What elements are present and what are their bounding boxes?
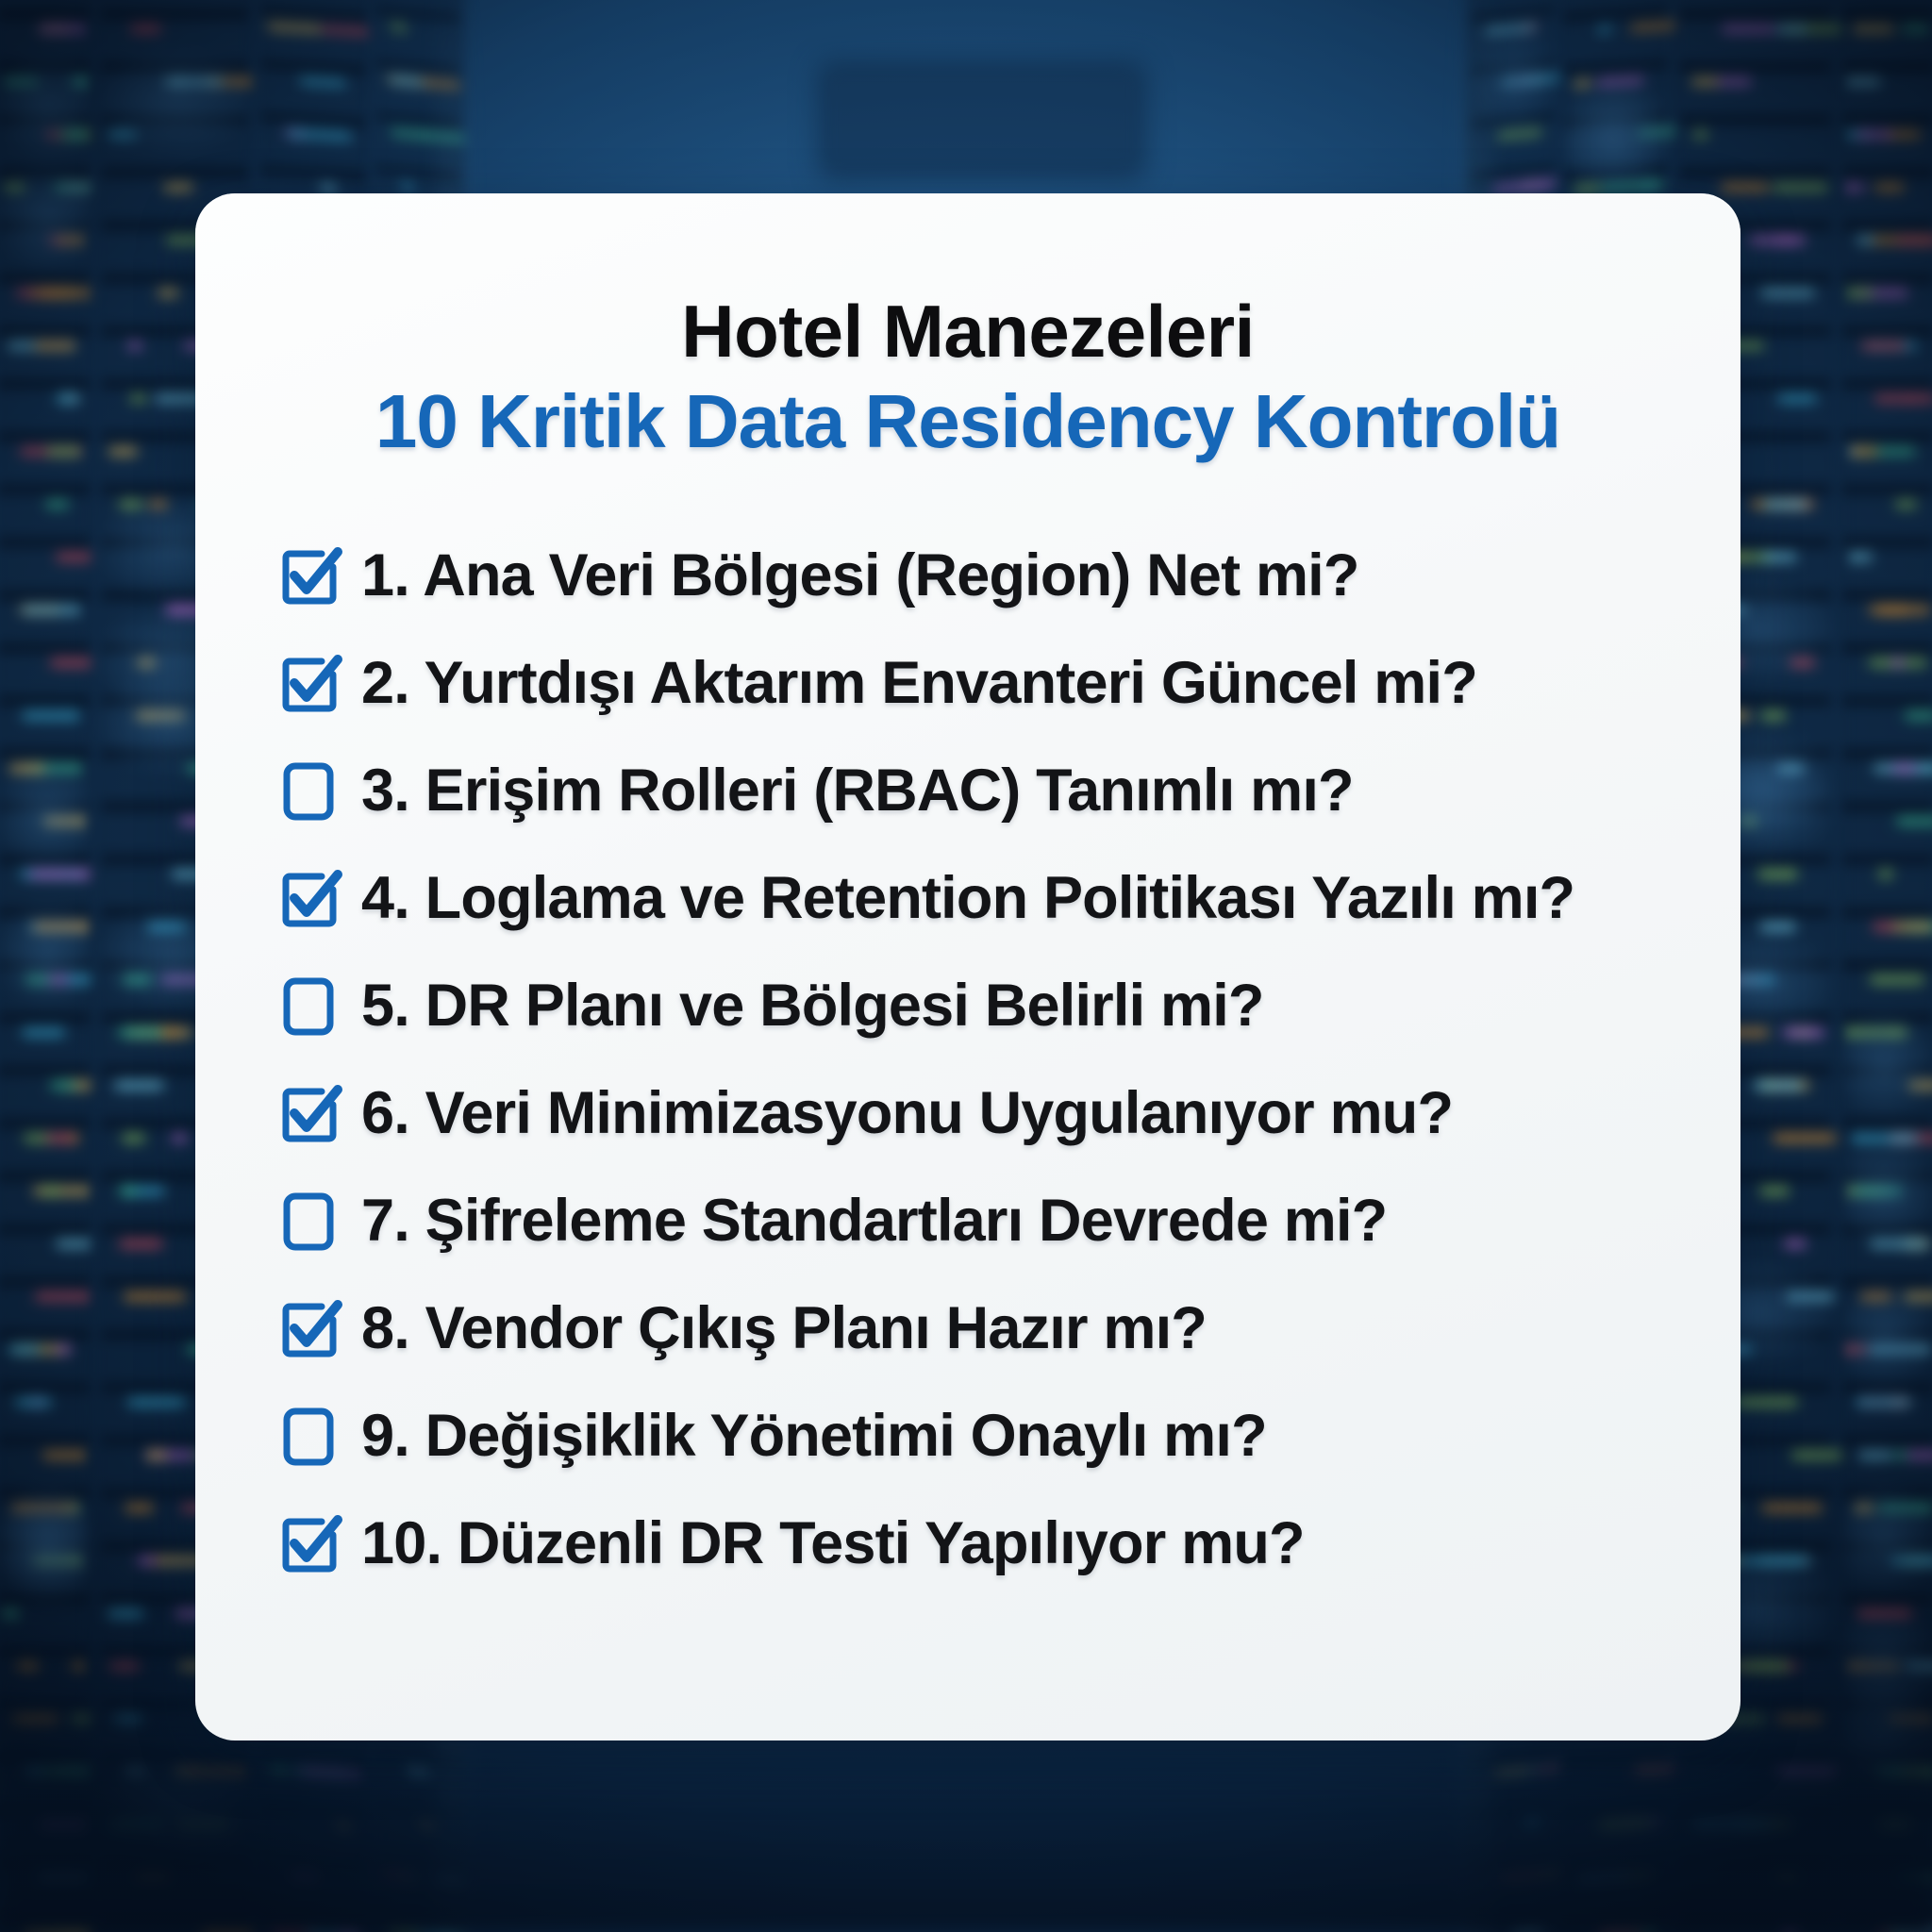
page-subtitle: 10 Kritik Data Residency Kontrolü xyxy=(265,382,1671,462)
checklist-item[interactable]: 2. Yurtdışı Aktarım Envanteri Güncel mi? xyxy=(278,629,1671,737)
poster-canvas: Hotel Manezeleri 10 Kritik Data Residenc… xyxy=(0,0,1932,1932)
checkbox-checked-icon[interactable] xyxy=(278,1512,341,1574)
checkbox-checked-icon[interactable] xyxy=(278,544,341,607)
checkbox-checked-icon[interactable] xyxy=(278,652,341,714)
checklist-item-label: 6. Veri Minimizasyonu Uygulanıyor mu? xyxy=(361,1079,1453,1147)
checklist-item[interactable]: 8. Vendor Çıkış Planı Hazır mı? xyxy=(278,1274,1671,1382)
checkbox-checked-icon[interactable] xyxy=(278,867,341,929)
checklist-item-label: 3. Erişim Rolleri (RBAC) Tanımlı mı? xyxy=(361,757,1354,824)
checklist-item-label: 4. Loglama ve Retention Politikası Yazıl… xyxy=(361,864,1574,932)
checklist-item-label: 1. Ana Veri Bölgesi (Region) Net mi? xyxy=(361,541,1359,609)
checkbox-empty-icon[interactable] xyxy=(278,1190,341,1252)
checklist-item[interactable]: 6. Veri Minimizasyonu Uygulanıyor mu? xyxy=(278,1059,1671,1167)
checklist-item-label: 8. Vendor Çıkış Planı Hazır mı? xyxy=(361,1294,1207,1362)
checklist-item[interactable]: 5. DR Planı ve Bölgesi Belirli mi? xyxy=(278,952,1671,1059)
checklist-item-label: 5. DR Planı ve Bölgesi Belirli mi? xyxy=(361,972,1264,1040)
checkbox-empty-icon[interactable] xyxy=(278,974,341,1037)
checklist-item-label: 10. Düzenli DR Testi Yapılıyor mu? xyxy=(361,1509,1305,1577)
checklist-item[interactable]: 7. Şifreleme Standartları Devrede mi? xyxy=(278,1167,1671,1274)
checklist: 1. Ana Veri Bölgesi (Region) Net mi?2. Y… xyxy=(265,522,1671,1597)
checklist-item[interactable]: 9. Değişiklik Yönetimi Onaylı mı? xyxy=(278,1382,1671,1490)
checklist-item[interactable]: 10. Düzenli DR Testi Yapılıyor mu? xyxy=(278,1490,1671,1597)
checklist-item[interactable]: 1. Ana Veri Bölgesi (Region) Net mi? xyxy=(278,522,1671,629)
checklist-item[interactable]: 4. Loglama ve Retention Politikası Yazıl… xyxy=(278,844,1671,952)
checkbox-checked-icon[interactable] xyxy=(278,1082,341,1144)
checklist-item-label: 7. Şifreleme Standartları Devrede mi? xyxy=(361,1187,1387,1255)
checklist-item-label: 9. Değişiklik Yönetimi Onaylı mı? xyxy=(361,1402,1267,1470)
checkbox-empty-icon[interactable] xyxy=(278,759,341,822)
checklist-item[interactable]: 3. Erişim Rolleri (RBAC) Tanımlı mı? xyxy=(278,737,1671,844)
checklist-item-label: 2. Yurtdışı Aktarım Envanteri Güncel mi? xyxy=(361,649,1477,717)
page-title: Hotel Manezeleri xyxy=(265,292,1671,371)
checkbox-checked-icon[interactable] xyxy=(278,1297,341,1359)
checkbox-empty-icon[interactable] xyxy=(278,1405,341,1467)
checklist-card: Hotel Manezeleri 10 Kritik Data Residenc… xyxy=(195,193,1740,1740)
